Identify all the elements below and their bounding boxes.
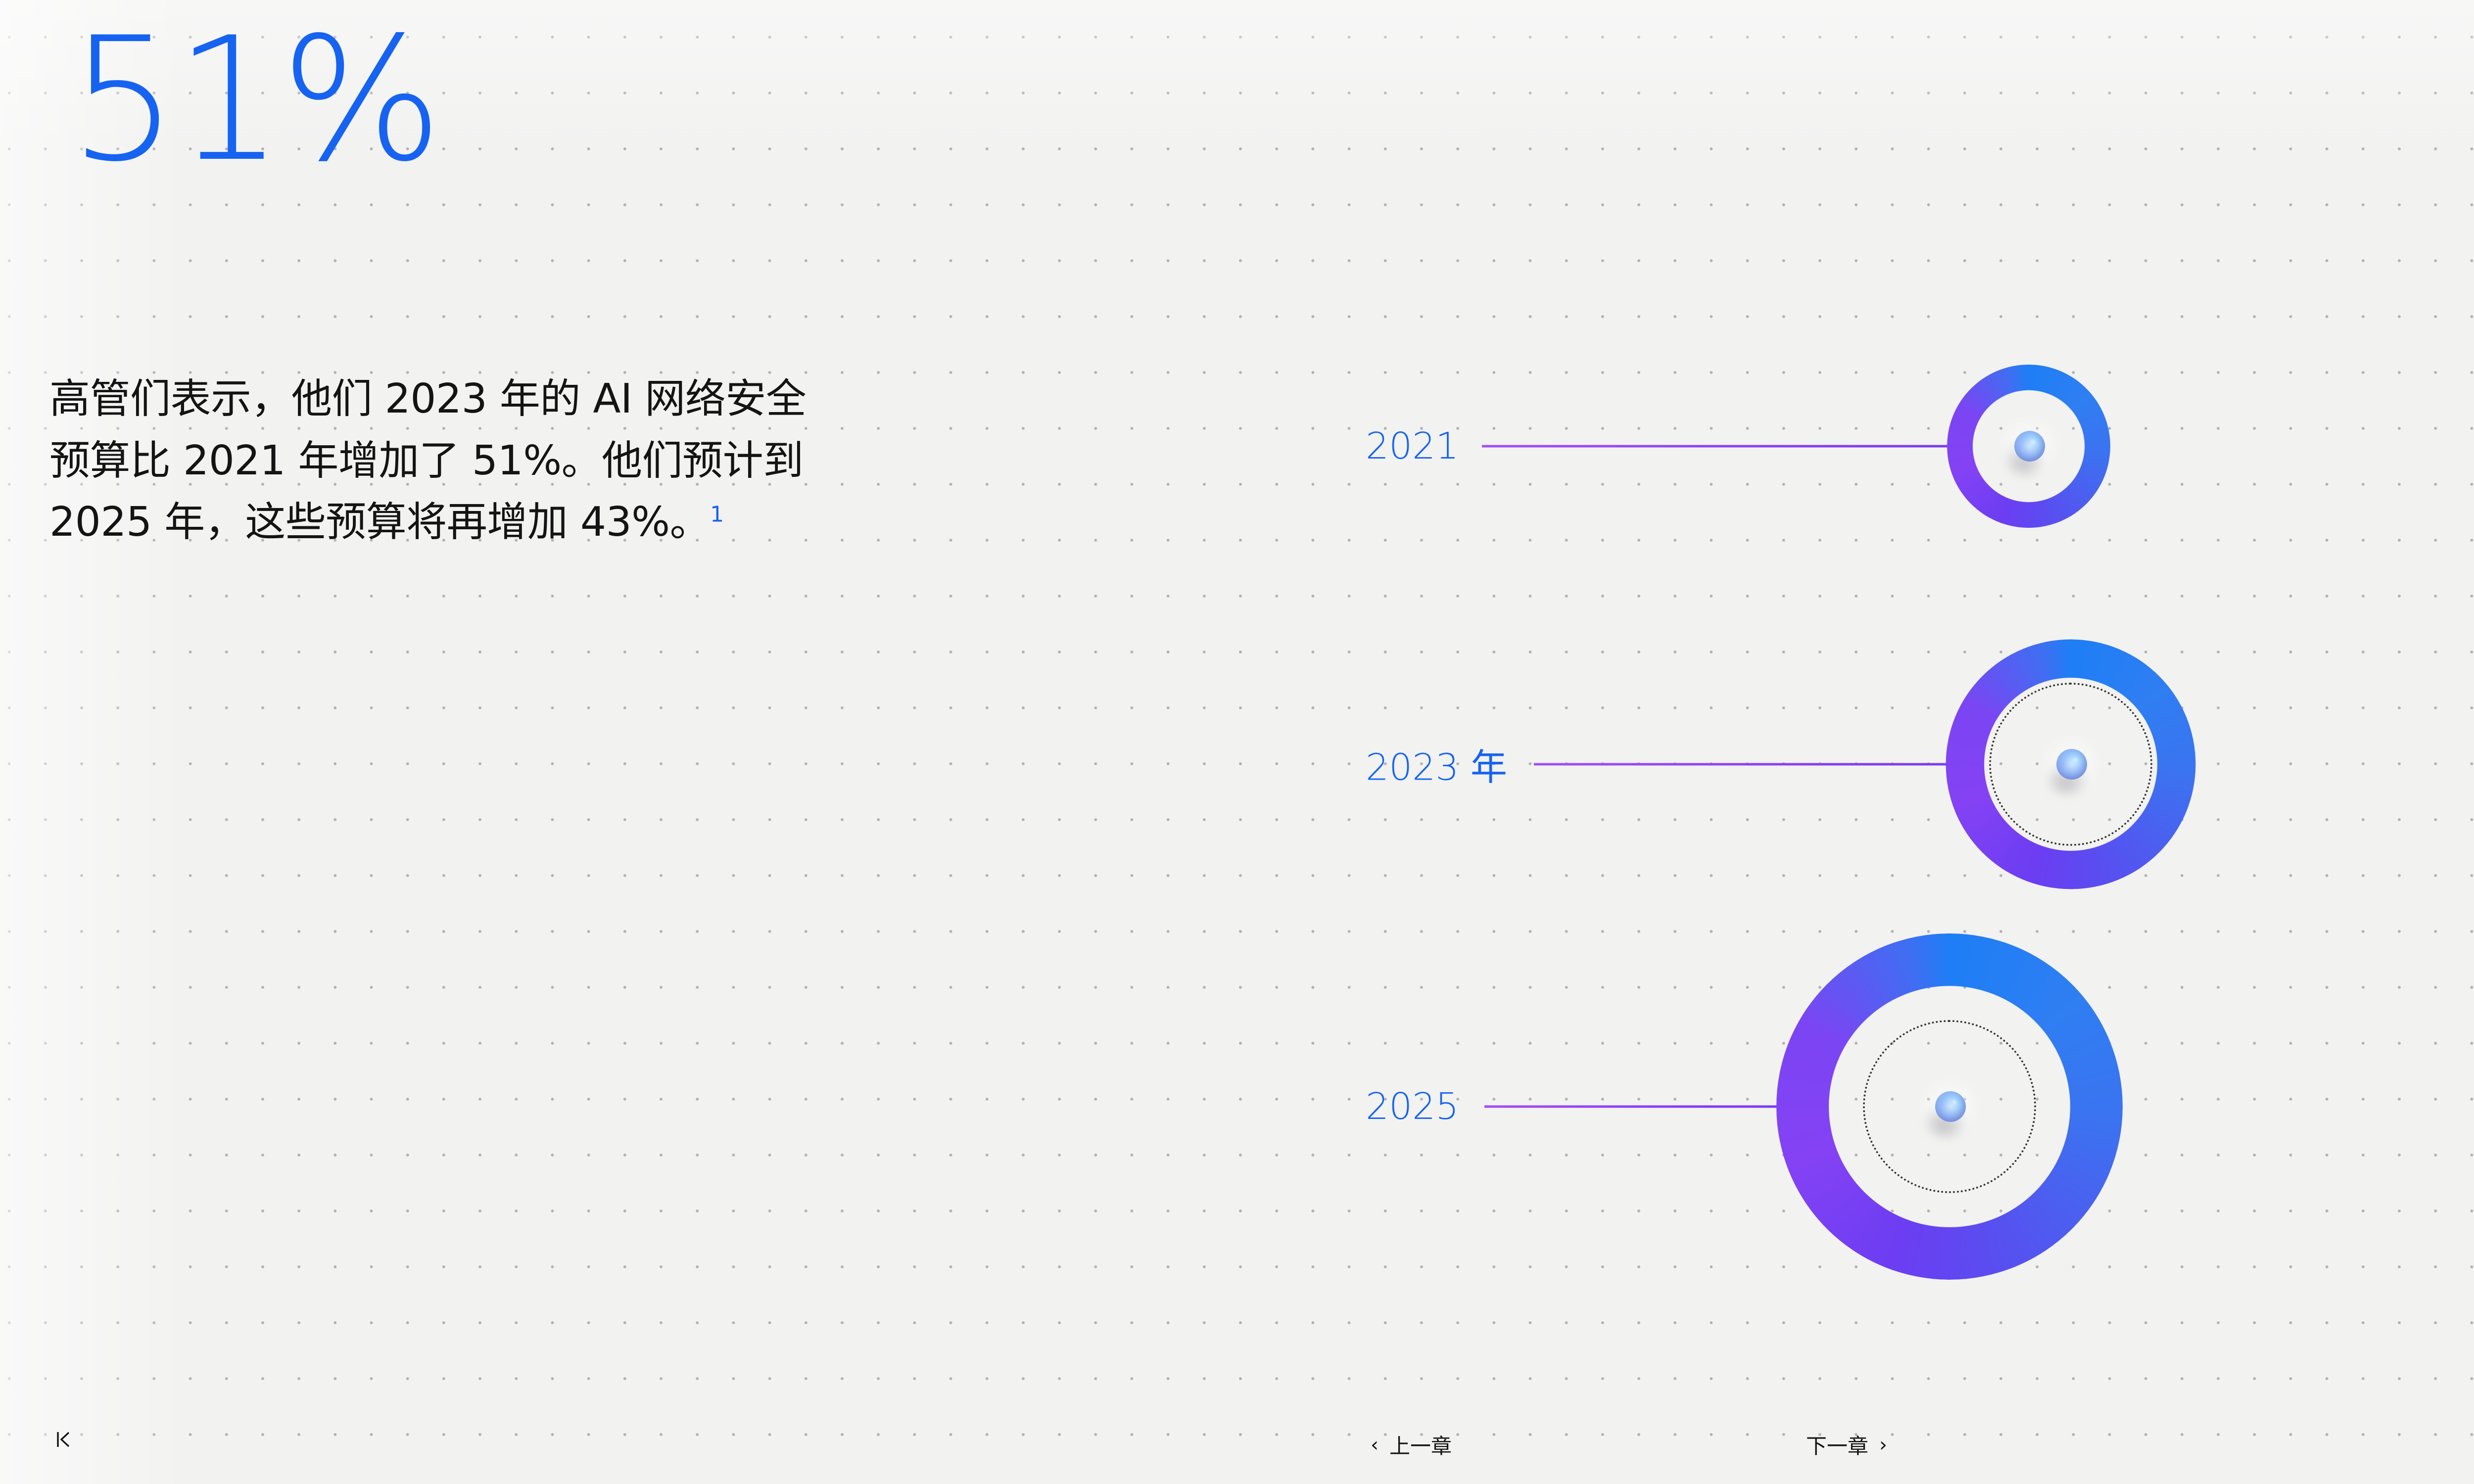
year-label-2021: 2021 — [1366, 425, 1459, 467]
sphere-marker-2025 — [1935, 1091, 1966, 1122]
body-text: 高管们表示，他们 2023 年的 AI 网络安全预算比 2021 年增加了 51… — [49, 375, 806, 546]
footnote-marker: 1 — [710, 502, 724, 527]
connector-line-2023 — [1534, 763, 1947, 766]
skip-to-start-button[interactable] — [55, 1429, 72, 1450]
headline-statistic: 51% — [69, 15, 440, 185]
body-paragraph: 高管们表示，他们 2023 年的 AI 网络安全预算比 2021 年增加了 51… — [49, 369, 821, 554]
slide-page: 51% 高管们表示，他们 2023 年的 AI 网络安全预算比 2021 年增加… — [0, 0, 2474, 1484]
skip-to-start-icon — [55, 1429, 72, 1450]
chevron-left-icon: ‹ — [1371, 1435, 1379, 1455]
previous-chapter-button[interactable]: ‹ 上一章 — [1371, 1430, 1452, 1460]
slide-footer: ‹ 上一章 下一章 › 8 — [0, 1410, 2474, 1484]
next-chapter-button[interactable]: 下一章 › — [1806, 1430, 1887, 1460]
previous-chapter-label: 上一章 — [1389, 1430, 1452, 1460]
connector-line-2021 — [1482, 445, 1947, 448]
year-label-2023: 2023 年 — [1366, 738, 1507, 791]
next-chapter-label: 下一章 — [1806, 1430, 1868, 1460]
year-label-2025: 2025 — [1366, 1085, 1459, 1128]
sphere-marker-2023 — [2056, 749, 2087, 780]
sphere-marker-2021 — [2014, 431, 2045, 462]
connector-line-2025 — [1484, 1106, 1776, 1108]
chevron-right-icon: › — [1879, 1435, 1887, 1455]
bubble-diagram: 2021 2023 年 2025 — [1336, 307, 2474, 1355]
